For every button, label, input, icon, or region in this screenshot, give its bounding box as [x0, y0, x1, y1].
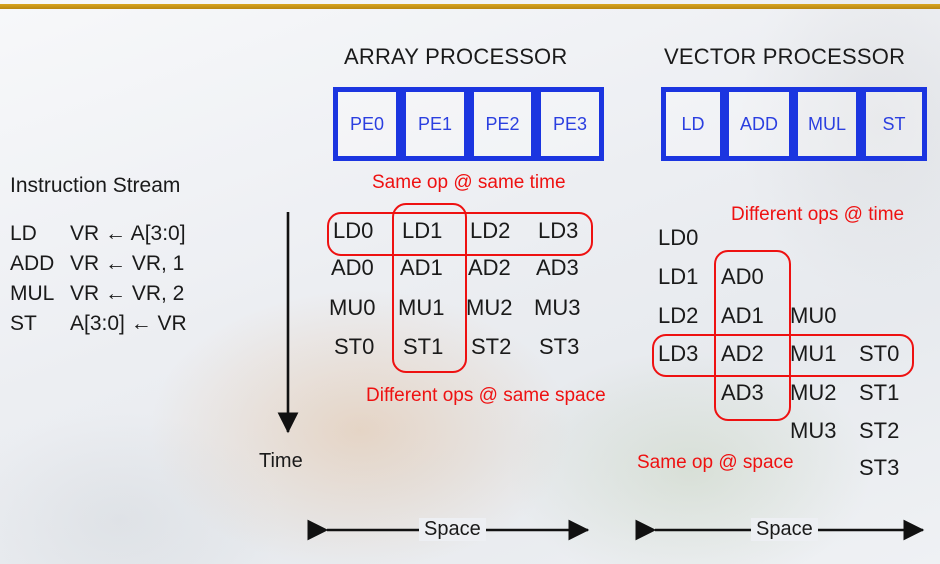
space-axis-label-vector: Space	[751, 518, 818, 541]
time-axis-label: Time	[259, 450, 303, 473]
vector-cell-st-3: ST3	[859, 455, 899, 481]
vector-annotation-different-ops-time: Different ops @ time	[731, 204, 904, 226]
vector-unit-label: MUL	[808, 114, 846, 135]
array-cell-r3c3: ST3	[539, 334, 579, 360]
vector-cell-mul-0: MU0	[790, 303, 836, 329]
instruction-row-2-op: MUL	[10, 282, 54, 306]
vector-unit-ld[interactable]: LD	[661, 87, 725, 161]
vector-cell-st-2: ST2	[859, 418, 899, 444]
vector-unit-label: ST	[882, 114, 905, 135]
gold-accent-bar	[0, 4, 940, 9]
array-unit-label: PE3	[553, 114, 587, 135]
array-cell-r2c0: MU0	[329, 295, 375, 321]
vector-cell-add-3: AD3	[721, 380, 764, 406]
vector-cell-st-0: ST0	[859, 341, 899, 367]
vector-cell-mul-1: MU1	[790, 341, 836, 367]
instruction-row-2-body: VR ← VR, 2	[70, 282, 184, 306]
instruction-row-3-op: ST	[10, 312, 37, 336]
vector-processor-heading: VECTOR PROCESSOR	[664, 44, 905, 70]
vector-cell-ld-1: LD1	[658, 264, 698, 290]
array-cell-r2c2: MU2	[466, 295, 512, 321]
vector-unit-st[interactable]: ST	[861, 87, 927, 161]
array-annotation-different-ops-same-space: Different ops @ same space	[366, 385, 606, 407]
slide-canvas: ARRAY PROCESSOR VECTOR PROCESSOR PE0 PE1…	[0, 0, 940, 564]
array-unit-pe2[interactable]: PE2	[469, 87, 536, 161]
vector-cell-st-1: ST1	[859, 380, 899, 406]
instruction-row-3-body: A[3:0] ← VR	[70, 312, 187, 336]
instruction-stream-title: Instruction Stream	[10, 174, 180, 198]
array-cell-r0c0: LD0	[333, 218, 373, 244]
array-cell-r1c0: AD0	[331, 255, 374, 281]
vector-cell-add-0: AD0	[721, 264, 764, 290]
array-cell-r0c1: LD1	[402, 218, 442, 244]
vector-unit-label: ADD	[740, 114, 778, 135]
array-unit-label: PE2	[485, 114, 519, 135]
vector-cell-add-2: AD2	[721, 341, 764, 367]
array-cell-r1c2: AD2	[468, 255, 511, 281]
vector-unit-add[interactable]: ADD	[724, 87, 794, 161]
vector-unit-mul[interactable]: MUL	[793, 87, 861, 161]
instruction-row-1-body: VR ← VR, 1	[70, 252, 184, 276]
instruction-row-1-op: ADD	[10, 252, 54, 276]
array-cell-r3c2: ST2	[471, 334, 511, 360]
array-cell-r3c1: ST1	[403, 334, 443, 360]
array-cell-r3c0: ST0	[334, 334, 374, 360]
instruction-row-0-op: LD	[10, 222, 37, 246]
array-cell-r2c1: MU1	[398, 295, 444, 321]
array-cell-r1c1: AD1	[400, 255, 443, 281]
array-unit-pe3[interactable]: PE3	[536, 87, 604, 161]
instruction-row-0-body: VR ← A[3:0]	[70, 222, 186, 246]
vector-cell-ld-3: LD3	[658, 341, 698, 367]
array-unit-label: PE1	[418, 114, 452, 135]
array-unit-label: PE0	[350, 114, 384, 135]
vector-cell-add-1: AD1	[721, 303, 764, 329]
vector-cell-ld-2: LD2	[658, 303, 698, 329]
array-cell-r1c3: AD3	[536, 255, 579, 281]
vector-annotation-same-op-space: Same op @ space	[637, 452, 794, 474]
array-processor-heading: ARRAY PROCESSOR	[344, 44, 567, 70]
array-cell-r0c3: LD3	[538, 218, 578, 244]
vector-cell-ld-0: LD0	[658, 225, 698, 251]
vector-cell-mul-3: MU3	[790, 418, 836, 444]
vector-unit-label: LD	[681, 114, 704, 135]
space-axis-label-array: Space	[419, 518, 486, 541]
array-cell-r2c3: MU3	[534, 295, 580, 321]
array-annotation-same-op-same-time: Same op @ same time	[372, 172, 566, 194]
array-unit-pe0[interactable]: PE0	[333, 87, 401, 161]
vector-cell-mul-2: MU2	[790, 380, 836, 406]
array-unit-pe1[interactable]: PE1	[401, 87, 469, 161]
array-cell-r0c2: LD2	[470, 218, 510, 244]
